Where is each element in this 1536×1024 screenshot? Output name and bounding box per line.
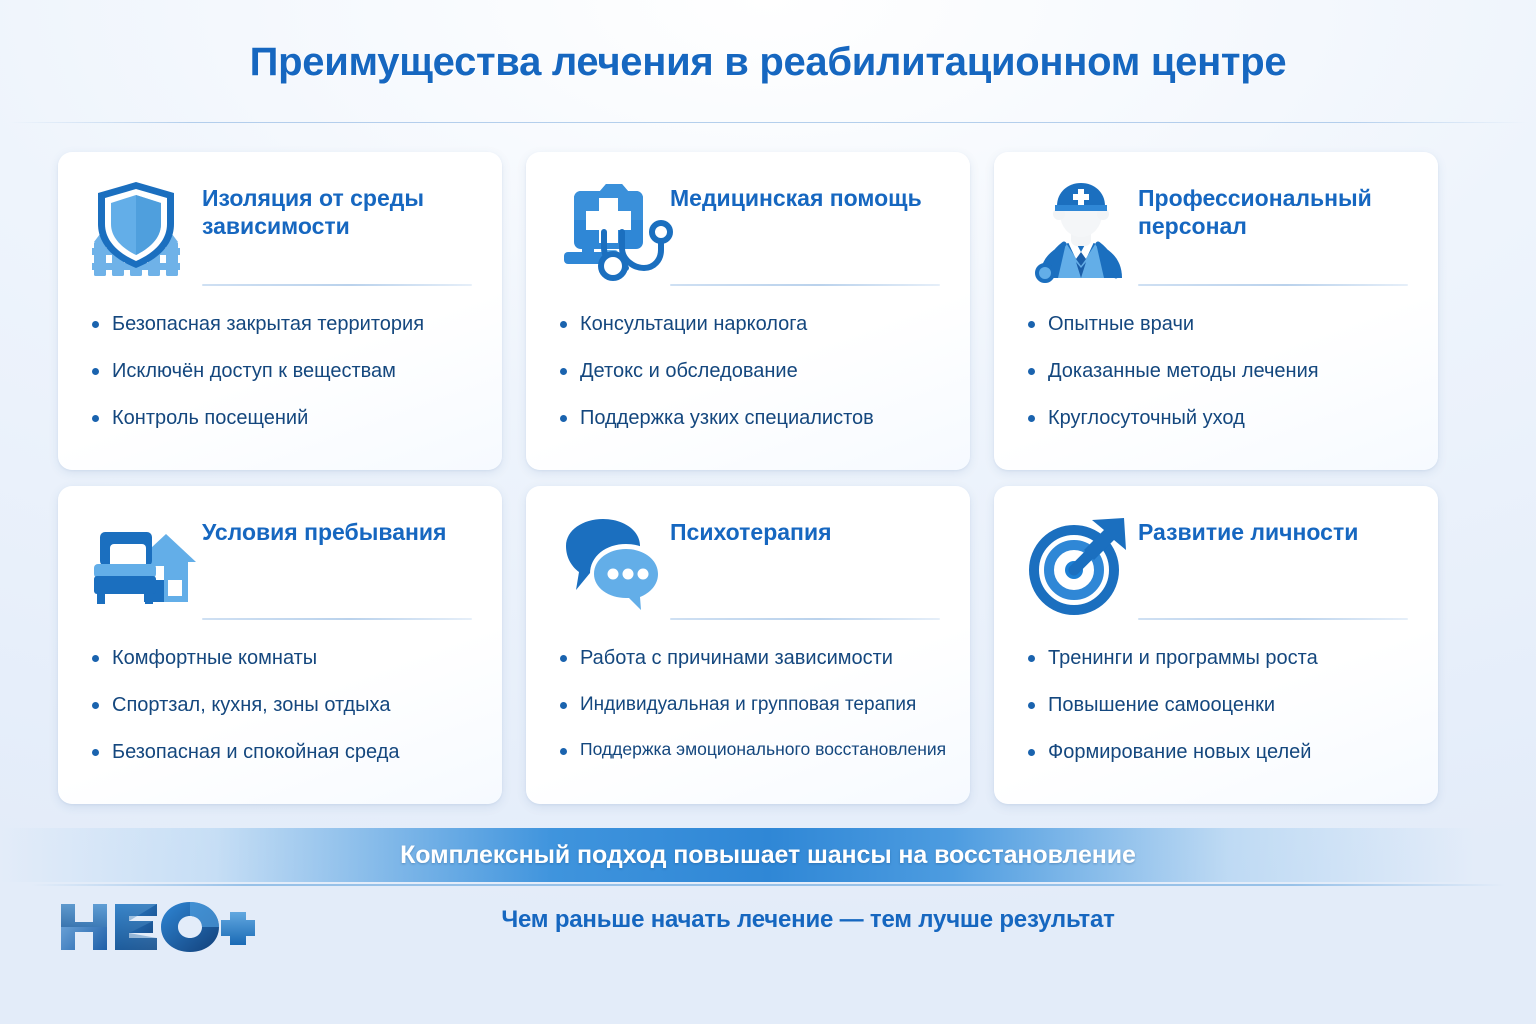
list-item: Формирование новых целей (1020, 740, 1412, 765)
benefit-card-professional-staff[interactable]: Профессиональный персонал Опытные врачи … (994, 152, 1438, 470)
card-header: Профессиональный персонал (1020, 178, 1412, 286)
benefit-card-personal-growth[interactable]: Развитие личности Тренинги и программы р… (994, 486, 1438, 804)
bed-house-icon (92, 514, 196, 614)
list-item: Круглосуточный уход (1020, 406, 1412, 431)
bullet-list: Работа с причинами зависимости Индивидуа… (552, 646, 944, 761)
card-title: Условия пребывания (202, 518, 476, 546)
list-item: Консультации нарколога (552, 312, 944, 337)
banner-underline (0, 884, 1536, 886)
footer: Чем раньше начать лечение — тем лучше ре… (0, 890, 1536, 970)
footer-tagline: Чем раньше начать лечение — тем лучше ре… (0, 906, 1536, 934)
banner-text: Комплексный подход повышает шансы на вос… (400, 841, 1136, 870)
card-divider (202, 618, 472, 620)
benefit-card-isolation[interactable]: Изоляция от среды зависимости Безопасная… (58, 152, 502, 470)
card-header: Психотерапия (552, 512, 944, 620)
card-header: Условия пребывания (84, 512, 476, 620)
list-item: Контроль посещений (84, 406, 476, 431)
shield-fence-icon (92, 180, 196, 280)
bullet-list: Комфортные комнаты Спортзал, кухня, зоны… (84, 646, 476, 765)
list-item: Безопасная и спокойная среда (84, 740, 476, 765)
benefit-card-living-conditions[interactable]: Условия пребывания Комфортные комнаты Сп… (58, 486, 502, 804)
list-item: Поддержка узких специалистов (552, 406, 944, 431)
benefit-card-medical-help[interactable]: Медицинская помощь Консультации нарколог… (526, 152, 970, 470)
card-title: Психотерапия (670, 518, 944, 546)
bullet-list: Консультации нарколога Детокс и обследов… (552, 312, 944, 431)
benefits-grid: Изоляция от среды зависимости Безопасная… (58, 152, 1478, 804)
card-header: Медицинская помощь (552, 178, 944, 286)
card-divider (202, 284, 472, 286)
target-arrow-icon (1028, 514, 1132, 614)
card-header: Развитие личности (1020, 512, 1412, 620)
bullet-list: Безопасная закрытая территория Исключён … (84, 312, 476, 431)
header: Преимущества лечения в реабилитационном … (0, 0, 1536, 125)
card-divider (670, 284, 940, 286)
list-item: Поддержка эмоционального восстановления (552, 739, 944, 761)
list-item: Спортзал, кухня, зоны отдыха (84, 693, 476, 718)
bullet-list: Опытные врачи Доказанные методы лечения … (1020, 312, 1412, 431)
card-title: Развитие личности (1138, 518, 1412, 546)
card-divider (1138, 618, 1408, 620)
summary-banner: Комплексный подход повышает шансы на вос… (0, 828, 1536, 882)
list-item: Безопасная закрытая территория (84, 312, 476, 337)
list-item: Комфортные комнаты (84, 646, 476, 671)
medical-kit-stethoscope-icon (560, 180, 664, 280)
list-item: Работа с причинами зависимости (552, 646, 944, 671)
list-item: Повышение самооценки (1020, 693, 1412, 718)
speech-bubbles-icon (560, 514, 664, 614)
card-title: Медицинская помощь (670, 184, 944, 212)
card-divider (670, 618, 940, 620)
page-title: Преимущества лечения в реабилитационном … (0, 40, 1536, 85)
card-title: Изоляция от среды зависимости (202, 184, 476, 240)
list-item: Тренинги и программы роста (1020, 646, 1412, 671)
list-item: Детокс и обследование (552, 359, 944, 384)
list-item: Индивидуальная и групповая терапия (552, 693, 944, 717)
benefit-card-psychotherapy[interactable]: Психотерапия Работа с причинами зависимо… (526, 486, 970, 804)
card-title: Профессиональный персонал (1138, 184, 1412, 240)
header-divider (8, 122, 1528, 123)
card-header: Изоляция от среды зависимости (84, 178, 476, 286)
doctor-icon (1028, 180, 1132, 280)
list-item: Исключён доступ к веществам (84, 359, 476, 384)
list-item: Опытные врачи (1020, 312, 1412, 337)
bullet-list: Тренинги и программы роста Повышение сам… (1020, 646, 1412, 765)
list-item: Доказанные методы лечения (1020, 359, 1412, 384)
card-divider (1138, 284, 1408, 286)
